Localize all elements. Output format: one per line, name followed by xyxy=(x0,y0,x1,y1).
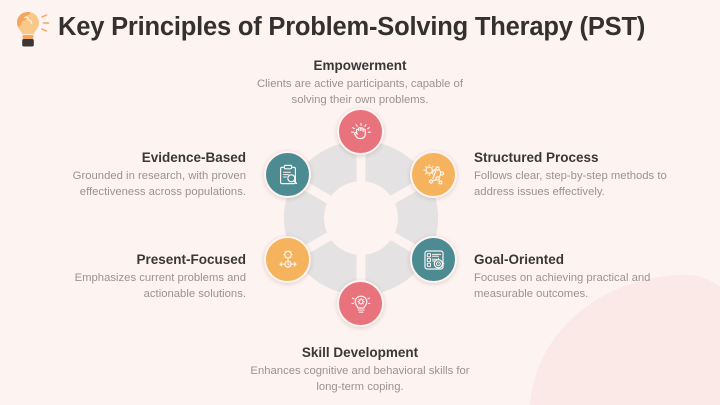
lightbulb-gear-icon xyxy=(348,291,374,317)
raised-fist-icon xyxy=(348,119,374,145)
slide-header: Key Principles of Problem-Solving Therap… xyxy=(8,8,645,50)
label-goal-oriented: Goal-Oriented Focuses on achieving pract… xyxy=(474,252,684,302)
label-heading: Present-Focused xyxy=(46,252,246,268)
node-empowerment[interactable] xyxy=(337,108,384,155)
process-network-icon xyxy=(421,162,447,188)
label-heading: Skill Development xyxy=(240,345,480,361)
label-description: Enhances cognitive and behavioral skills… xyxy=(240,364,480,395)
label-description: Focuses on achieving practical and measu… xyxy=(474,271,684,302)
node-present-focused[interactable] xyxy=(264,236,311,283)
clock-arrows-icon xyxy=(275,247,301,273)
label-present-focused: Present-Focused Emphasizes current probl… xyxy=(46,252,246,302)
principles-donut-diagram xyxy=(253,108,468,340)
page-title: Key Principles of Problem-Solving Therap… xyxy=(58,15,645,43)
slide-canvas: Key Principles of Problem-Solving Therap… xyxy=(0,0,720,405)
checklist-target-icon xyxy=(421,247,447,273)
label-heading: Goal-Oriented xyxy=(474,252,684,268)
node-goal-oriented[interactable] xyxy=(410,236,457,283)
label-description: Follows clear, step-by-step methods to a… xyxy=(474,169,684,200)
node-evidence-based[interactable] xyxy=(264,151,311,198)
label-empowerment: Empowerment Clients are active participa… xyxy=(240,58,480,108)
node-structured-process[interactable] xyxy=(410,151,457,198)
label-heading: Structured Process xyxy=(474,150,684,166)
node-skill-development[interactable] xyxy=(337,280,384,327)
label-description: Emphasizes current problems and actionab… xyxy=(46,271,246,302)
label-skill-development: Skill Development Enhances cognitive and… xyxy=(240,345,480,395)
label-heading: Evidence-Based xyxy=(46,150,246,166)
clipboard-magnifier-icon xyxy=(275,162,301,188)
label-description: Clients are active participants, capable… xyxy=(240,77,480,108)
label-heading: Empowerment xyxy=(240,58,480,74)
label-evidence-based: Evidence-Based Grounded in research, wit… xyxy=(46,150,246,200)
label-description: Grounded in research, with proven effect… xyxy=(46,169,246,200)
lightbulb-puzzle-icon xyxy=(8,8,52,50)
donut-center-hole xyxy=(324,181,398,255)
label-structured-process: Structured Process Follows clear, step-b… xyxy=(474,150,684,200)
